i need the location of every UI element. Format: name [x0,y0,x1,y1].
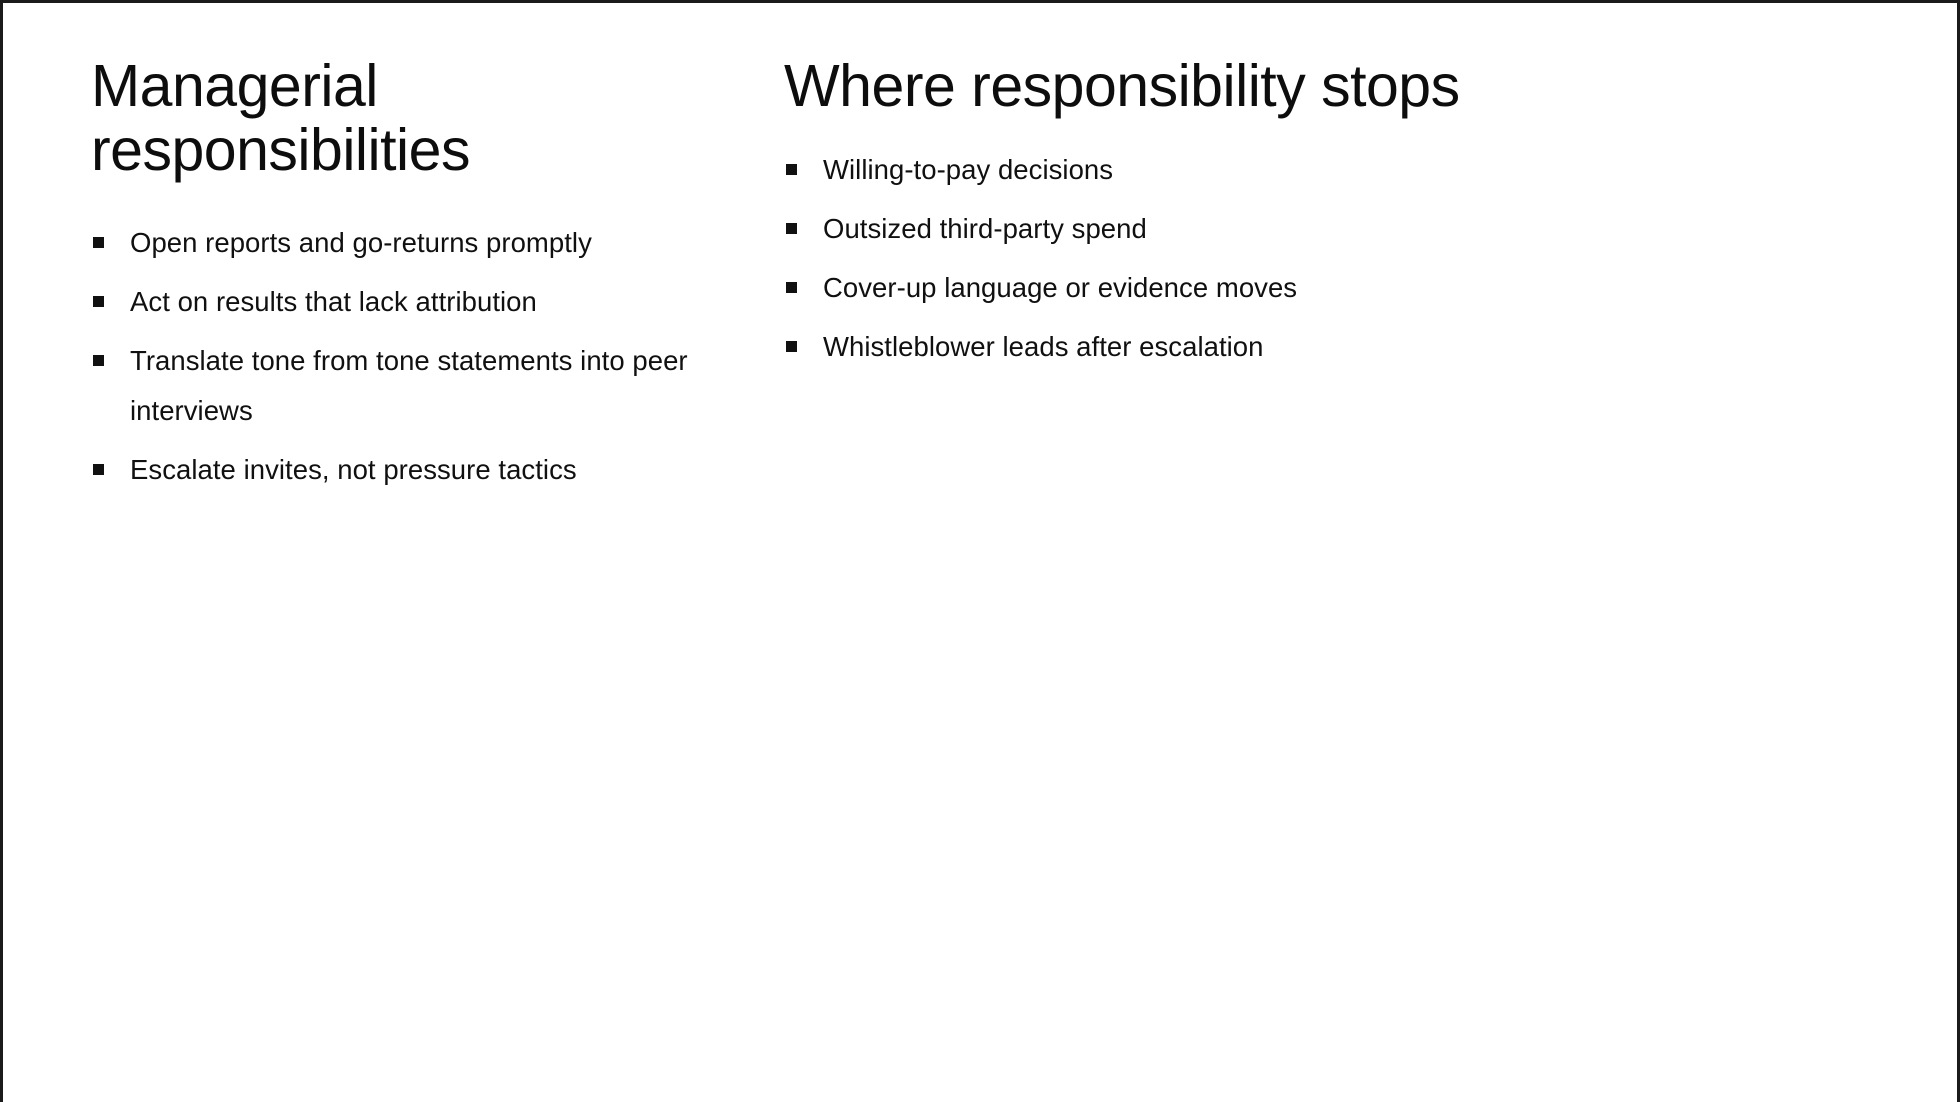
square-bullet-icon [93,464,104,475]
list-item: Willing-to-pay decisions [784,145,1784,195]
list-item-label: Whistleblower leads after escalation [823,322,1784,372]
list-item-label: Willing-to-pay decisions [823,145,1784,195]
list-item: Escalate invites, not pressure tactics [91,445,741,495]
page-title-left: Managerial responsibilities [91,3,611,182]
square-bullet-icon [786,164,797,175]
page-title-right: Where responsibility stops [784,3,1784,119]
square-bullet-icon [786,223,797,234]
content-column-right: Where responsibility stops Willing-to-pa… [784,3,1864,381]
bullet-list-right: Willing-to-pay decisions Outsized third-… [784,145,1784,372]
list-item: Act on results that lack attribution [91,277,741,327]
list-item-label: Outsized third-party spend [823,204,1784,254]
list-item-label: Escalate invites, not pressure tactics [130,445,741,495]
list-item-label: Act on results that lack attribution [130,277,741,327]
list-item: Whistleblower leads after escalation [784,322,1784,372]
list-item: Outsized third-party spend [784,204,1784,254]
list-item: Cover-up language or evidence moves [784,263,1784,313]
list-item-label: Cover-up language or evidence moves [823,263,1784,313]
slide-canvas: Managerial responsibilities Open reports… [0,0,1960,1102]
square-bullet-icon [93,355,104,366]
square-bullet-icon [786,282,797,293]
list-item: Open reports and go-returns promptly [91,218,741,268]
list-item-label: Translate tone from tone statements into… [130,336,741,436]
list-item: Translate tone from tone statements into… [91,336,741,436]
square-bullet-icon [93,296,104,307]
bullet-list-left: Open reports and go-returns promptly Act… [91,218,741,495]
square-bullet-icon [93,237,104,248]
square-bullet-icon [786,341,797,352]
content-column-left: Managerial responsibilities Open reports… [91,3,751,504]
list-item-label: Open reports and go-returns promptly [130,218,741,268]
